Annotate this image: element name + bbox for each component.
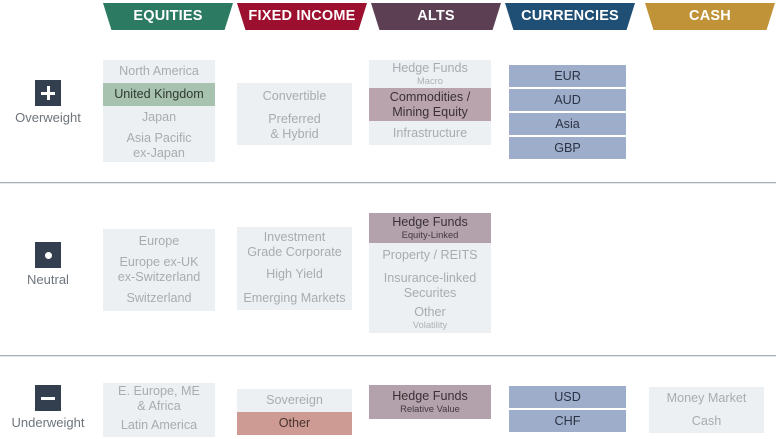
asset-group-overweight-fixed_income: ConvertiblePreferred& Hybrid	[237, 83, 352, 145]
asset-item[interactable]: Asia	[509, 113, 626, 135]
asset-item-label: Preferred	[268, 112, 321, 127]
asset-group-neutral-fixed_income: InvestmentGrade CorporateHigh YieldEmerg…	[237, 227, 352, 310]
asset-item[interactable]: Latin America	[103, 414, 215, 437]
asset-item[interactable]: EUR	[509, 65, 626, 87]
asset-item[interactable]: Hedge FundsEquity-Linked	[369, 213, 491, 243]
asset-item[interactable]: Hedge FundsMacro	[369, 60, 491, 88]
rating-label-neutral: Neutral	[0, 242, 96, 286]
asset-item-label: Sovereign	[266, 393, 323, 408]
asset-item[interactable]: Asia Pacificex-Japan	[103, 129, 215, 162]
asset-item[interactable]: High Yield	[237, 262, 352, 286]
asset-item[interactable]: Hedge FundsRelative Value	[369, 385, 491, 419]
asset-item[interactable]: CHF	[509, 410, 626, 432]
asset-item[interactable]: Emerging Markets	[237, 286, 352, 310]
asset-item[interactable]: Cash	[649, 410, 764, 433]
category-header-row: EQUITIES FIXED INCOME ALTS CURRENCIES CA…	[0, 0, 776, 34]
rating-label-text: Underweight	[12, 416, 85, 429]
asset-item-sublabel: Equity-Linked	[402, 230, 459, 241]
asset-item-label: Insurance-linked	[384, 271, 476, 286]
asset-item[interactable]: Convertible	[237, 83, 352, 109]
asset-group-neutral-alts: Hedge FundsEquity-LinkedProperty / REITS…	[369, 213, 491, 333]
asset-item-label: E. Europe, ME	[118, 384, 200, 399]
asset-item[interactable]: AUD	[509, 89, 626, 111]
asset-group-neutral-equities: EuropeEurope ex-UKex-SwitzerlandSwitzerl…	[103, 229, 215, 311]
asset-item-label: Asia	[555, 117, 580, 132]
asset-item-label: ex-Japan	[133, 146, 185, 161]
asset-item-label: Convertible	[263, 89, 327, 104]
asset-group-underweight-equities: E. Europe, ME& AfricaLatin America	[103, 383, 215, 437]
asset-item-label: Hedge Funds	[392, 389, 468, 404]
asset-item-label: Property / REITS	[382, 248, 477, 263]
asset-item-label: North America	[119, 64, 199, 79]
category-header-label: ALTS	[417, 9, 455, 24]
asset-item-label: United Kingdom	[114, 87, 204, 102]
asset-item[interactable]: GBP	[509, 137, 626, 159]
asset-item-label: ex-Switzerland	[118, 270, 201, 285]
asset-item[interactable]: Europe	[103, 229, 215, 253]
asset-item[interactable]: Infrastructure	[369, 121, 491, 145]
asset-group-underweight-currencies: USDCHF	[509, 386, 626, 432]
asset-group-overweight-currencies: EURAUDAsiaGBP	[509, 65, 626, 159]
category-header-label: CASH	[689, 9, 731, 24]
category-header-alts[interactable]: ALTS	[371, 3, 501, 30]
asset-item-label: Money Market	[667, 391, 747, 406]
category-header-equities[interactable]: EQUITIES	[103, 3, 233, 30]
asset-item[interactable]: Commodities /Mining Equity	[369, 88, 491, 121]
asset-item[interactable]: North America	[103, 60, 215, 83]
asset-item-label: Latin America	[121, 418, 197, 433]
dot-icon	[35, 242, 61, 268]
asset-item-label: Hedge Funds	[392, 215, 468, 230]
asset-item[interactable]: Property / REITS	[369, 243, 491, 268]
category-header-label: EQUITIES	[133, 9, 202, 24]
row-divider-neutral-underweight	[0, 355, 776, 357]
asset-item-label: High Yield	[266, 267, 323, 282]
minus-icon	[35, 385, 61, 411]
asset-item[interactable]: InvestmentGrade Corporate	[237, 227, 352, 262]
asset-item[interactable]: Other	[237, 412, 352, 435]
asset-item-label: Other	[414, 305, 446, 320]
asset-item-label: Europe	[139, 234, 180, 249]
asset-item-label: USD	[554, 390, 581, 405]
category-header-label: FIXED INCOME	[248, 9, 355, 24]
asset-item-label: Asia Pacific	[126, 131, 191, 146]
category-header-label: CURRENCIES	[521, 9, 619, 24]
asset-item-label: Mining Equity	[392, 105, 468, 120]
asset-group-overweight-alts: Hedge FundsMacroCommodities /Mining Equi…	[369, 60, 491, 145]
asset-item-label: Cash	[692, 414, 721, 429]
asset-item-label: Europe ex-UK	[119, 255, 198, 270]
asset-item-label: Securites	[404, 286, 457, 301]
asset-group-underweight-cash: Money MarketCash	[649, 387, 764, 433]
asset-item-sublabel: Volatility	[413, 320, 447, 331]
asset-item[interactable]: United Kingdom	[103, 83, 215, 106]
asset-item[interactable]: Japan	[103, 106, 215, 129]
asset-item-label: Infrastructure	[393, 126, 467, 141]
asset-item[interactable]: Europe ex-UKex-Switzerland	[103, 253, 215, 286]
plus-icon	[35, 80, 61, 106]
asset-item[interactable]: Sovereign	[237, 389, 352, 412]
asset-item-label: Switzerland	[126, 291, 191, 306]
asset-item-label: EUR	[554, 69, 581, 84]
asset-item-label: Japan	[142, 110, 176, 125]
asset-item-label: Grade Corporate	[247, 245, 342, 260]
asset-item-label: CHF	[555, 414, 581, 429]
asset-group-underweight-fixed_income: SovereignOther	[237, 389, 352, 435]
rating-label-text: Overweight	[15, 111, 81, 124]
asset-item-label: Emerging Markets	[243, 291, 345, 306]
asset-item[interactable]: Insurance-linkedSecurites	[369, 268, 491, 303]
asset-item[interactable]: Switzerland	[103, 286, 215, 311]
asset-item[interactable]: E. Europe, ME& Africa	[103, 383, 215, 414]
asset-item[interactable]: Preferred& Hybrid	[237, 109, 352, 145]
category-header-cash[interactable]: CASH	[645, 3, 775, 30]
asset-item-label: AUD	[554, 93, 581, 108]
asset-item-label: GBP	[554, 141, 581, 156]
asset-group-overweight-equities: North AmericaUnited KingdomJapanAsia Pac…	[103, 60, 215, 162]
asset-item-sublabel: Macro	[417, 76, 443, 87]
rating-label-underweight: Underweight	[0, 385, 96, 429]
asset-item-label: Commodities /	[390, 90, 470, 105]
asset-item-label: Hedge Funds	[392, 61, 468, 76]
asset-item-label: Other	[279, 416, 311, 431]
row-divider-overweight-neutral	[0, 182, 776, 184]
category-header-fixed-income[interactable]: FIXED INCOME	[237, 3, 367, 30]
asset-item-label: & Hybrid	[270, 127, 318, 142]
rating-label-text: Neutral	[27, 273, 69, 286]
rating-label-overweight: Overweight	[0, 80, 96, 124]
asset-item-sublabel: Relative Value	[400, 404, 460, 415]
category-header-currencies[interactable]: CURRENCIES	[505, 3, 635, 30]
asset-item[interactable]: OtherVolatility	[369, 303, 491, 333]
asset-item[interactable]: USD	[509, 386, 626, 408]
asset-item-label: Investment	[264, 230, 326, 245]
asset-group-underweight-alts: Hedge FundsRelative Value	[369, 385, 491, 419]
asset-item[interactable]: Money Market	[649, 387, 764, 410]
asset-item-label: & Africa	[137, 399, 180, 414]
